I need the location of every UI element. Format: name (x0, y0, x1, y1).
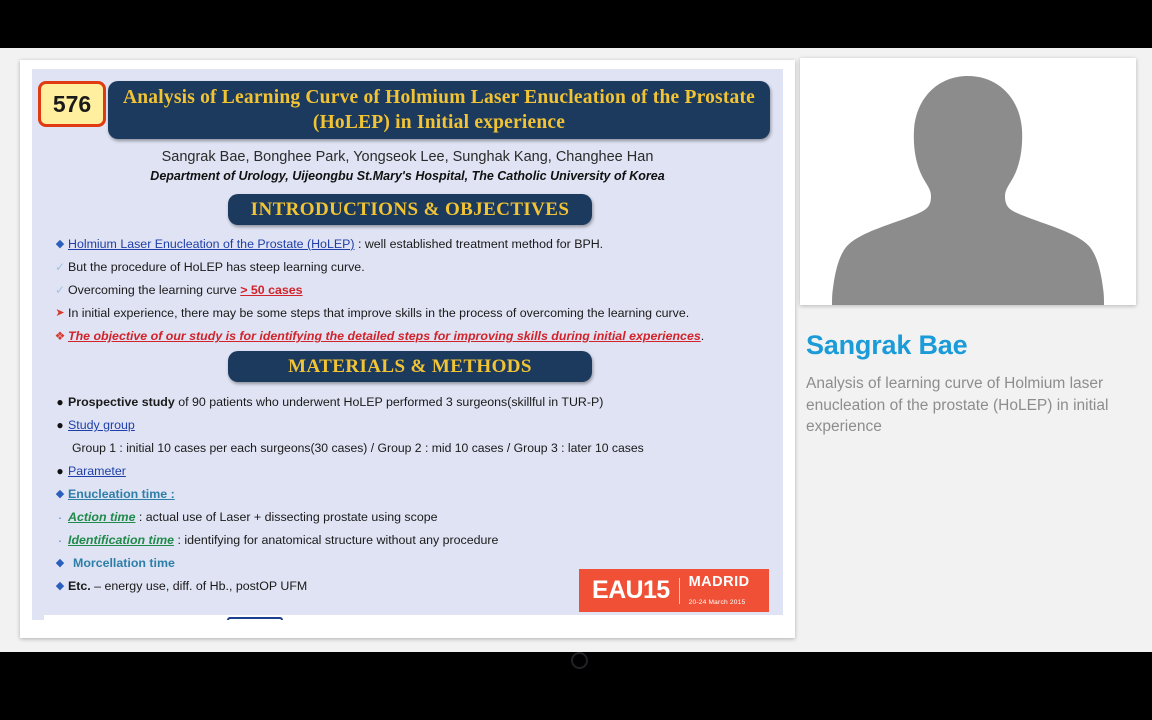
method-bullet-1-rest: of 90 patients who underwent HoLEP perfo… (175, 395, 604, 409)
method-bullet-7: ◆ Morcellation time (52, 556, 175, 571)
poster-number-badge: 576 (38, 81, 106, 127)
speaker-panel: Sangrak Bae Analysis of learning curve o… (800, 58, 1136, 488)
method-bullet-8: ◆ Etc. – energy use, diff. of Hb., postO… (52, 579, 307, 594)
arrow-bullet-icon: ➤ (52, 306, 68, 321)
slide-title-bar: Analysis of Learning Curve of Holmium La… (108, 81, 770, 139)
intro-bullet-1-text: Holmium Laser Enucleation of the Prostat… (68, 237, 603, 252)
method-bullet-8-text: Etc. – energy use, diff. of Hb., postOP … (68, 579, 307, 594)
dot-bullet-icon: ● (52, 464, 68, 479)
method-bullet-6: · Identification time : identifying for … (52, 533, 498, 548)
study-group-text: Group 1 : initial 10 cases per each surg… (72, 441, 644, 456)
section-header-materials: MATERIALS & METHODS (228, 351, 592, 382)
hospital-logo-icon (227, 617, 283, 620)
slide-content: 576 Analysis of Learning Curve of Holmiu… (32, 69, 783, 620)
intro-bullet-5-emphasis: The objective of our study is for identi… (68, 329, 701, 343)
method-bullet-1: ● Prospective study of 90 patients who u… (52, 395, 603, 410)
diamond-bullet-icon: ◆ (52, 487, 68, 502)
morcellation-time-label: Morcellation time (68, 556, 175, 571)
method-bullet-5: · Action time : actual use of Laser + di… (52, 510, 438, 525)
eau-congress-logo: EAU15 MADRID 20-24 March 2015 (579, 569, 769, 612)
eau-logo-date: 20-24 March 2015 (689, 599, 746, 606)
speaker-photo-card (800, 58, 1136, 305)
method-bullet-5-text: Action time : actual use of Laser + diss… (68, 510, 438, 525)
section-header-materials-label: MATERIALS & METHODS (288, 356, 532, 378)
diamond-bullet-icon: ◆ (52, 579, 68, 594)
method-bullet-8-bold: Etc. (68, 579, 91, 593)
intro-bullet-3: ✓ Overcoming the learning curve > 50 cas… (52, 283, 303, 298)
intro-bullet-1-rest: : well established treatment method for … (355, 237, 604, 251)
method-bullet-3: ● Parameter (52, 464, 126, 479)
intro-bullet-5: ❖ The objective of our study is for iden… (52, 329, 704, 344)
method-bullet-5-rest: : actual use of Laser + dissecting prost… (135, 510, 437, 524)
identification-time-label: Identification time (68, 533, 174, 547)
eau-logo-divider (679, 578, 680, 604)
slide-title: Analysis of Learning Curve of Holmium La… (108, 85, 770, 135)
intro-bullet-1: ◆ Holmium Laser Enucleation of the Prost… (52, 237, 603, 252)
check-bullet-icon: ✓ (52, 283, 68, 298)
study-group-line: Group 1 : initial 10 cases per each surg… (72, 441, 644, 456)
intro-bullet-3-text: Overcoming the learning curve > 50 cases (68, 283, 303, 298)
intro-bullet-4: ➤ In initial experience, there may be so… (52, 306, 689, 321)
dot-bullet-icon: ● (52, 395, 68, 410)
slide-affiliation: Department of Urology, Uijeongbu St.Mary… (32, 169, 783, 183)
section-header-introductions: INTRODUCTIONS & OBJECTIVES (228, 194, 592, 225)
method-bullet-6-text: Identification time : identifying for an… (68, 533, 498, 548)
method-bullet-4: ◆ Enucleation time : (52, 487, 175, 502)
intro-bullet-5-tail: . (701, 329, 704, 343)
intro-bullet-2-text: But the procedure of HoLEP has steep lea… (68, 260, 365, 275)
small-dot-bullet-icon: · (52, 533, 68, 548)
slide-authors: Sangrak Bae, Bonghee Park, Yongseok Lee,… (32, 149, 783, 165)
action-time-label: Action time (68, 510, 135, 524)
method-bullet-2-link: Study group (68, 418, 135, 433)
intro-bullet-4-text: In initial experience, there may be some… (68, 306, 689, 321)
method-bullet-2: ● Study group (52, 418, 135, 433)
check-bullet-icon: ✓ (52, 260, 68, 275)
eau-logo-city: MADRID (689, 574, 750, 590)
method-bullet-6-rest: : identifying for anatomical structure w… (174, 533, 498, 547)
page-area: 576 Analysis of Learning Curve of Holmiu… (0, 48, 1152, 652)
video-viewport: 576 Analysis of Learning Curve of Holmiu… (0, 0, 1152, 720)
diamond-bullet-icon: ◆ (52, 556, 68, 571)
intro-bullet-5-text: The objective of our study is for identi… (68, 329, 704, 344)
method-bullet-1-text: Prospective study of 90 patients who und… (68, 395, 603, 410)
clover-bullet-icon: ❖ (52, 329, 68, 344)
play-watermark-icon (571, 652, 588, 669)
dot-bullet-icon: ● (52, 418, 68, 433)
slide-card[interactable]: 576 Analysis of Learning Curve of Holmiu… (20, 60, 795, 638)
intro-bullet-3-lead: Overcoming the learning curve (68, 283, 240, 297)
speaker-talk-title: Analysis of learning curve of Holmium la… (806, 373, 1138, 438)
enucleation-time-label: Enucleation time : (68, 487, 175, 502)
eau-logo-location: MADRID 20-24 March 2015 (689, 573, 750, 609)
method-bullet-8-rest: – energy use, diff. of Hb., postOP UFM (91, 579, 307, 593)
diamond-bullet-icon: ◆ (52, 237, 68, 252)
method-bullet-3-link: Parameter (68, 464, 126, 479)
hospital-footer: THE CATHOLIC UNIVERSITY OF KOREA UIJEONG… (44, 615, 783, 620)
small-dot-bullet-icon: · (52, 510, 68, 525)
intro-bullet-2: ✓ But the procedure of HoLEP has steep l… (52, 260, 365, 275)
intro-bullet-1-link: Holmium Laser Enucleation of the Prostat… (68, 237, 355, 251)
eau-logo-main: EAU15 (592, 576, 670, 605)
intro-bullet-3-highlight: > 50 cases (240, 283, 302, 297)
speaker-name: Sangrak Bae (806, 330, 967, 361)
person-silhouette-icon (800, 58, 1136, 305)
method-bullet-1-bold: Prospective study (68, 395, 175, 409)
section-header-introductions-label: INTRODUCTIONS & OBJECTIVES (251, 199, 570, 221)
